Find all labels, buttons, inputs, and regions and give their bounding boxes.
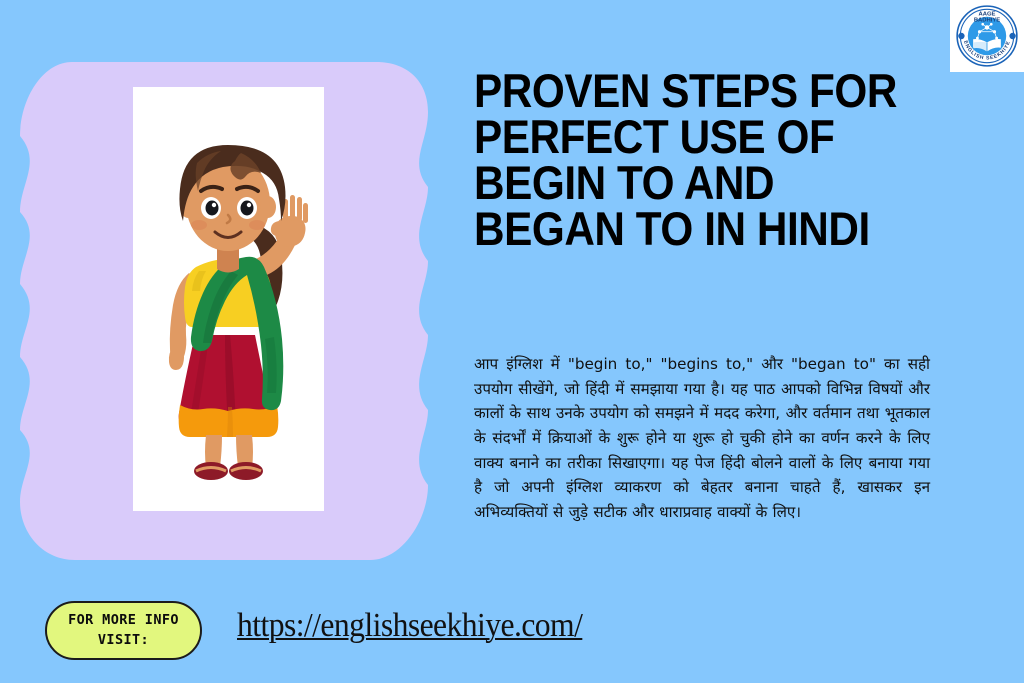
- badge-line-1: FOR MORE INFO: [68, 611, 179, 631]
- logo-top-text: AAGE: [979, 12, 996, 18]
- logo-top-text-2: BADHIYE: [974, 18, 1000, 24]
- headline-line-4: BEGAN TO IN HINDI: [474, 206, 897, 252]
- headline-line-3: BEGIN TO AND: [474, 160, 897, 206]
- brand-logo[interactable]: AAGE BADHIYE ENGLISH SEEKHIYE: [950, 0, 1024, 72]
- for-more-info-badge[interactable]: FOR MORE INFO VISIT:: [45, 601, 202, 660]
- illustration-card: [133, 87, 324, 511]
- website-url-link[interactable]: https://englishseekhiye.com/: [237, 607, 582, 645]
- badge-line-2: VISIT:: [98, 631, 149, 651]
- headline-line-2: PERFECT USE OF: [474, 114, 897, 160]
- headline-line-1: PROVEN STEPS FOR: [474, 68, 897, 114]
- poster-canvas: PROVEN STEPS FOR PERFECT USE OF BEGIN TO…: [0, 0, 1024, 683]
- description-paragraph: आप इंग्लिश में "begin to," "begins to," …: [474, 352, 930, 524]
- page-title: PROVEN STEPS FOR PERFECT USE OF BEGIN TO…: [474, 68, 897, 252]
